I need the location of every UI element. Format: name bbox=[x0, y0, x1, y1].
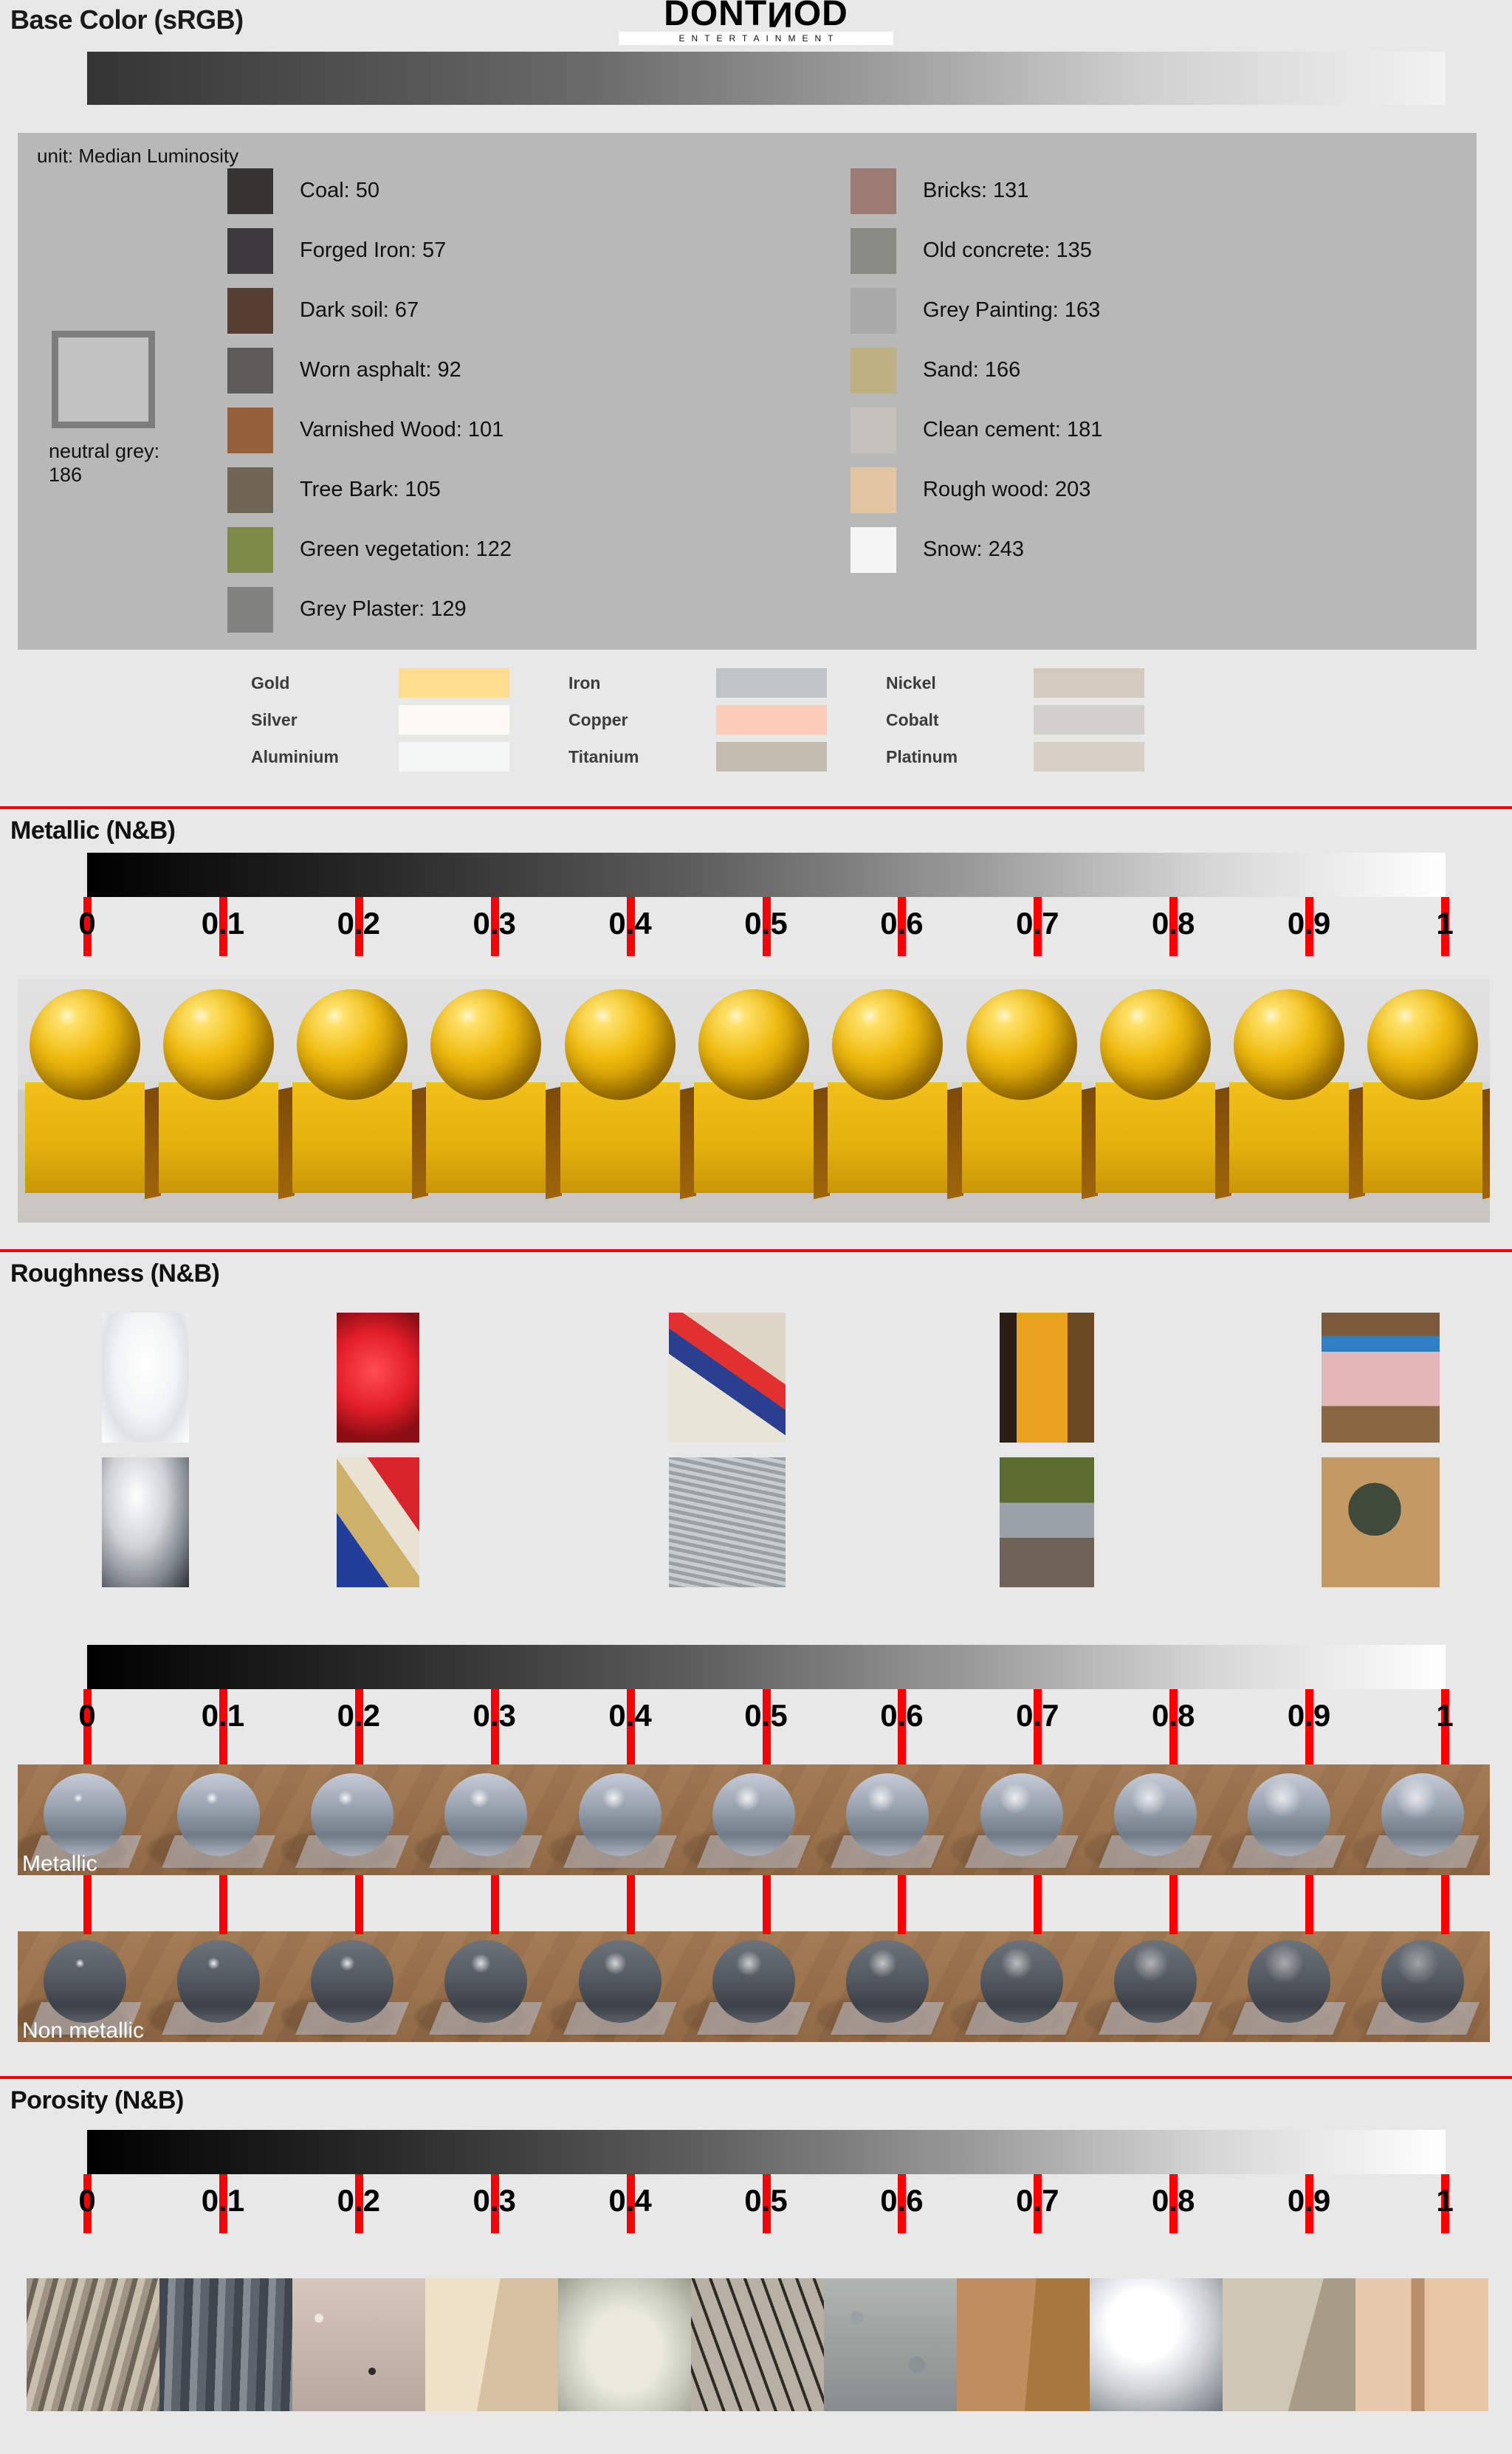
unfired-terracotta-box-photo bbox=[1355, 2278, 1488, 2411]
metallic-sample bbox=[1222, 979, 1355, 1223]
tick-mark bbox=[1441, 1875, 1449, 1934]
metal-swatch-iron bbox=[716, 668, 827, 698]
roughness-sphere bbox=[712, 1940, 795, 2023]
color-swatch-old-concrete bbox=[850, 228, 896, 274]
ballpoint-pens-photo bbox=[669, 1313, 786, 1443]
orange-glass-bottle-photo bbox=[1000, 1313, 1094, 1443]
metal-name: Iron bbox=[568, 673, 716, 693]
roughness-sphere bbox=[444, 1773, 527, 1856]
swatch-row: Sand: 166 bbox=[850, 340, 1102, 400]
tick-mark bbox=[355, 1875, 363, 1934]
swatch-row: Clean cement: 181 bbox=[850, 400, 1102, 460]
metal-name: Gold bbox=[251, 673, 399, 693]
metallic-ruler: 00.10.20.30.40.50.60.70.80.91 bbox=[0, 853, 1512, 963]
tick-label: 1 bbox=[1436, 1698, 1453, 1733]
swatch-label: Grey Painting: 163 bbox=[923, 298, 1100, 323]
swatch-label: Snow: 243 bbox=[923, 537, 1024, 562]
swatch-label: Dark soil: 67 bbox=[300, 298, 419, 323]
page-header: Base Color (sRGB) DONTNOD ENTERTAINMENT bbox=[0, 0, 1512, 49]
color-swatch-coal bbox=[227, 168, 273, 214]
stacked-slate-slabs-photo bbox=[159, 2278, 292, 2411]
base-color-left-column: Coal: 50Forged Iron: 57Dark soil: 67Worn… bbox=[227, 161, 512, 639]
roughness-metallic-sphere-row: Metallic bbox=[18, 1764, 1490, 1875]
color-swatch-snow bbox=[850, 527, 896, 573]
metal-name: Silver bbox=[251, 710, 399, 730]
page-title: Base Color (sRGB) bbox=[10, 4, 244, 35]
swatch-row: Grey Plaster: 129 bbox=[227, 580, 512, 639]
tick-label: 0.3 bbox=[472, 1698, 515, 1733]
river-pebble-wall-photo bbox=[824, 2278, 957, 2411]
snow-covered-ground-photo bbox=[1090, 2278, 1223, 2411]
tick-mark bbox=[898, 1875, 906, 1934]
tick-mark bbox=[627, 1875, 635, 1934]
swatch-label: Grey Plaster: 129 bbox=[300, 597, 467, 622]
tick-label: 0.9 bbox=[1288, 906, 1330, 941]
metal-name: Cobalt bbox=[886, 710, 1034, 730]
metal-cell-platinum: Platinum bbox=[886, 742, 1203, 771]
metal-cell-gold: Gold bbox=[251, 668, 568, 698]
tick-label: 0.8 bbox=[1152, 2183, 1195, 2218]
metallic-tick-marks: 00.10.20.30.40.50.60.70.80.91 bbox=[0, 897, 1512, 956]
swatch-row: Green vegetation: 122 bbox=[227, 520, 512, 580]
metal-name: Copper bbox=[568, 710, 716, 730]
roughness-sphere bbox=[579, 1940, 661, 2023]
roughness-tick-marks: 00.10.20.30.40.50.60.70.80.91 bbox=[0, 1689, 1512, 1748]
sample-sphere bbox=[698, 989, 809, 1100]
base-color-gradient-bar bbox=[87, 52, 1446, 105]
eraser-on-desk-photo bbox=[1322, 1313, 1440, 1443]
metal-name: Aluminium bbox=[251, 747, 399, 767]
swatch-label: Coal: 50 bbox=[300, 179, 379, 203]
roughness-sphere bbox=[1114, 1940, 1197, 2023]
tick-label: 0.5 bbox=[744, 1698, 787, 1733]
metal-swatch-platinum bbox=[1034, 742, 1144, 771]
tick-label: 0.3 bbox=[472, 2183, 515, 2218]
tick-mark bbox=[219, 1875, 227, 1934]
swatch-row: Dark soil: 67 bbox=[227, 281, 512, 340]
roughness-sphere bbox=[579, 1773, 661, 1856]
tick-label: 0.2 bbox=[337, 1698, 380, 1733]
swatch-row: Grey Painting: 163 bbox=[850, 281, 1102, 340]
brass-pen-barrel-photo bbox=[337, 1457, 419, 1587]
tick-label: 0.2 bbox=[337, 2183, 380, 2218]
tick-label: 0.9 bbox=[1288, 1698, 1330, 1733]
metallic-section-title: Metallic (N&B) bbox=[0, 809, 1512, 848]
porosity-tick-marks: 00.10.20.30.40.50.60.70.80.91 bbox=[0, 2174, 1512, 2233]
neutral-grey-swatch bbox=[52, 331, 155, 428]
metallic-sample bbox=[18, 979, 151, 1223]
roughness-sphere bbox=[177, 1940, 260, 2023]
metal-cell-titanium: Titanium bbox=[568, 742, 886, 771]
unit-label: unit: Median Luminosity bbox=[37, 145, 238, 168]
color-swatch-varnished-wood bbox=[227, 408, 273, 453]
metal-name: Nickel bbox=[886, 673, 1034, 693]
sample-sphere bbox=[297, 989, 408, 1100]
tick-label: 0 bbox=[78, 1698, 95, 1733]
metal-name: Platinum bbox=[886, 747, 1034, 767]
base-color-right-column: Bricks: 131Old concrete: 135Grey Paintin… bbox=[850, 161, 1102, 580]
tick-label: 1 bbox=[1436, 2183, 1453, 2218]
sample-sphere bbox=[163, 989, 274, 1100]
tick-label: 0.8 bbox=[1152, 906, 1195, 941]
metallic-render-strip bbox=[18, 979, 1490, 1223]
metallic-sample bbox=[553, 979, 687, 1223]
porosity-section: Porosity (N&B) 00.10.20.30.40.50.60.70.8… bbox=[0, 2076, 1512, 2248]
sample-sphere bbox=[1100, 989, 1211, 1100]
tick-label: 0.7 bbox=[1016, 2183, 1059, 2218]
metallic-sample bbox=[286, 979, 419, 1223]
porosity-ruler: 00.10.20.30.40.50.60.70.80.91 bbox=[0, 2130, 1512, 2248]
color-swatch-worn-asphalt bbox=[227, 348, 273, 393]
metal-cell-copper: Copper bbox=[568, 705, 886, 735]
aged-bronze-coins-photo bbox=[1322, 1457, 1440, 1587]
color-swatch-grey-plaster bbox=[227, 587, 273, 633]
tick-label: 0.1 bbox=[202, 2183, 244, 2218]
roughness-sphere bbox=[311, 1773, 394, 1856]
roughness-nonmetallic-sphere-row: Non metallic bbox=[18, 1931, 1490, 2042]
swatch-row: Old concrete: 135 bbox=[850, 221, 1102, 281]
swatch-row: Coal: 50 bbox=[227, 161, 512, 221]
tick-mark bbox=[1034, 1875, 1042, 1934]
roughness-sphere bbox=[846, 1940, 929, 2023]
metal-cell-aluminium: Aluminium bbox=[251, 742, 568, 771]
tick-mark bbox=[1305, 1875, 1313, 1934]
swatch-label: Clean cement: 181 bbox=[923, 418, 1102, 442]
metal-name: Titanium bbox=[568, 747, 716, 767]
roughness-mid-tick-marks bbox=[0, 1875, 1512, 1934]
color-swatch-grey-painting bbox=[850, 288, 896, 334]
metal-cell-iron: Iron bbox=[568, 668, 886, 698]
speckled-granite-photo bbox=[292, 2278, 425, 2411]
color-swatch-dark-soil bbox=[227, 288, 273, 334]
red-ribbon-bow-photo bbox=[337, 1313, 419, 1443]
roughness-sphere bbox=[177, 1773, 260, 1856]
roughness-nonmetallic-row-label: Non metallic bbox=[22, 2018, 144, 2042]
swatch-label: Old concrete: 135 bbox=[923, 238, 1092, 263]
sample-sphere bbox=[30, 989, 140, 1100]
swatch-row: Varnished Wood: 101 bbox=[227, 400, 512, 460]
swatch-row: Snow: 243 bbox=[850, 520, 1102, 580]
cracked-rock-face-photo bbox=[27, 2278, 159, 2411]
tick-mark bbox=[491, 1875, 499, 1934]
roughness-sphere bbox=[311, 1940, 394, 2023]
metallic-sample bbox=[419, 979, 553, 1223]
color-swatch-green-vegetation bbox=[227, 527, 273, 573]
logo-tagline: ENTERTAINMENT bbox=[619, 32, 893, 45]
metallic-section: Metallic (N&B) 00.10.20.30.40.50.60.70.8… bbox=[0, 806, 1512, 963]
porosity-section-title: Porosity (N&B) bbox=[0, 2079, 1512, 2118]
swatch-row: Worn asphalt: 92 bbox=[227, 340, 512, 400]
roughness-reference-photos bbox=[0, 1313, 1512, 1593]
chrome-sphere-photo bbox=[102, 1457, 189, 1587]
swatch-label: Bricks: 131 bbox=[923, 179, 1028, 203]
sample-sphere bbox=[1367, 989, 1478, 1100]
tick-label: 0.7 bbox=[1016, 1698, 1059, 1733]
tick-label: 0.6 bbox=[880, 1698, 923, 1733]
swatch-row: Forged Iron: 57 bbox=[227, 221, 512, 281]
color-swatch-tree-bark bbox=[227, 467, 273, 513]
tick-label: 0 bbox=[78, 906, 95, 941]
galvanised-metal-planter-photo bbox=[1000, 1457, 1094, 1587]
tick-label: 0.3 bbox=[472, 906, 515, 941]
sample-sphere bbox=[1234, 989, 1344, 1100]
wet-clay-pottery-wheel-photo bbox=[558, 2278, 691, 2411]
metal-cell-silver: Silver bbox=[251, 705, 568, 735]
swatch-label: Varnished Wood: 101 bbox=[300, 418, 504, 442]
sample-sphere bbox=[565, 989, 676, 1100]
roughness-sphere bbox=[44, 1773, 126, 1856]
swatch-label: Rough wood: 203 bbox=[923, 478, 1090, 502]
swatch-row: Rough wood: 203 bbox=[850, 460, 1102, 520]
color-swatch-clean-cement bbox=[850, 408, 896, 453]
metal-swatch-silver bbox=[399, 705, 509, 735]
tick-label: 0.1 bbox=[202, 1698, 244, 1733]
swatch-row: Bricks: 131 bbox=[850, 161, 1102, 221]
metal-swatch-titanium bbox=[716, 742, 827, 771]
sample-sphere bbox=[430, 989, 541, 1100]
color-swatch-sand bbox=[850, 348, 896, 393]
roughness-sphere bbox=[1381, 1940, 1464, 2023]
metal-reference-grid: GoldIronNickelSilverCopperCobaltAluminiu… bbox=[251, 664, 1203, 775]
porosity-photo-strip bbox=[27, 2278, 1488, 2411]
tick-label: 0.4 bbox=[608, 906, 651, 941]
tick-label: 0.5 bbox=[744, 2183, 787, 2218]
roughness-sphere bbox=[1114, 1773, 1197, 1856]
dry-sand-dune-photo bbox=[1223, 2278, 1355, 2411]
metallic-gradient-bar bbox=[87, 853, 1446, 897]
tick-label: 0.8 bbox=[1152, 1698, 1195, 1733]
tick-label: 1 bbox=[1436, 906, 1453, 941]
tick-label: 0.2 bbox=[337, 906, 380, 941]
tick-label: 0.5 bbox=[744, 906, 787, 941]
tick-label: 0.6 bbox=[880, 2183, 923, 2218]
sample-sphere bbox=[966, 989, 1077, 1100]
porosity-gradient-bar bbox=[87, 2130, 1446, 2174]
swatch-label: Worn asphalt: 92 bbox=[300, 358, 461, 382]
tick-label: 0 bbox=[78, 2183, 95, 2218]
color-swatch-bricks bbox=[850, 168, 896, 214]
tick-mark bbox=[83, 1875, 92, 1934]
perforated-steel-colander-photo bbox=[669, 1457, 786, 1587]
color-swatch-forged-iron bbox=[227, 228, 273, 274]
metal-cell-cobalt: Cobalt bbox=[886, 705, 1203, 735]
metallic-sample bbox=[687, 979, 820, 1223]
metallic-sample bbox=[821, 979, 955, 1223]
tick-label: 0.7 bbox=[1016, 906, 1059, 941]
metal-swatch-gold bbox=[399, 668, 509, 698]
swatch-label: Green vegetation: 122 bbox=[300, 537, 512, 562]
tick-label: 0.9 bbox=[1288, 2183, 1330, 2218]
dontnod-logo: DONTNOD ENTERTAINMENT bbox=[619, 0, 893, 45]
roughness-sphere bbox=[1248, 1940, 1330, 2023]
tick-label: 0.6 bbox=[880, 906, 923, 941]
roughness-section: Roughness (N&B) bbox=[0, 1249, 1512, 1291]
roughness-sphere bbox=[444, 1940, 527, 2023]
roughness-sphere bbox=[1248, 1773, 1330, 1856]
roughness-sphere bbox=[1381, 1773, 1464, 1856]
tick-label: 0.4 bbox=[608, 1698, 651, 1733]
swatch-row: Tree Bark: 105 bbox=[227, 460, 512, 520]
drinking-glass-photo bbox=[102, 1313, 189, 1443]
roughness-metallic-row-label: Metallic bbox=[22, 1852, 97, 1875]
color-swatch-rough-wood bbox=[850, 467, 896, 513]
metallic-sample bbox=[1356, 979, 1490, 1223]
metallic-sample bbox=[955, 979, 1088, 1223]
neutral-grey-label: neutral grey: 186 bbox=[49, 440, 182, 487]
cracked-dry-mud-photo bbox=[691, 2278, 824, 2411]
swatch-label: Sand: 166 bbox=[923, 358, 1020, 382]
metal-swatch-nickel bbox=[1034, 668, 1144, 698]
roughness-section-title: Roughness (N&B) bbox=[0, 1252, 1512, 1291]
roughness-gradient-bar bbox=[87, 1645, 1446, 1689]
roughness-sphere bbox=[980, 1940, 1063, 2023]
roughness-sphere bbox=[846, 1773, 929, 1856]
metallic-sample bbox=[151, 979, 285, 1223]
metal-swatch-cobalt bbox=[1034, 705, 1144, 735]
pale-limestone-photo bbox=[425, 2278, 558, 2411]
tick-label: 0.4 bbox=[608, 2183, 651, 2218]
metal-swatch-aluminium bbox=[399, 742, 509, 771]
roughness-sphere bbox=[712, 1773, 795, 1856]
swatch-label: Forged Iron: 57 bbox=[300, 238, 446, 263]
metal-cell-nickel: Nickel bbox=[886, 668, 1203, 698]
tick-mark bbox=[763, 1875, 771, 1934]
tick-label: 0.1 bbox=[202, 906, 244, 941]
base-color-swatch-panel: unit: Median Luminosity neutral grey: 18… bbox=[18, 133, 1477, 650]
roughness-sphere bbox=[44, 1940, 126, 2023]
roughness-sphere bbox=[980, 1773, 1063, 1856]
logo-wordmark: DONTNOD bbox=[619, 0, 893, 31]
sample-sphere bbox=[832, 989, 943, 1100]
swatch-label: Tree Bark: 105 bbox=[300, 478, 441, 502]
metal-swatch-copper bbox=[716, 705, 827, 735]
metallic-sample bbox=[1088, 979, 1222, 1223]
red-sandstone-photo bbox=[957, 2278, 1090, 2411]
tick-mark bbox=[1169, 1875, 1178, 1934]
